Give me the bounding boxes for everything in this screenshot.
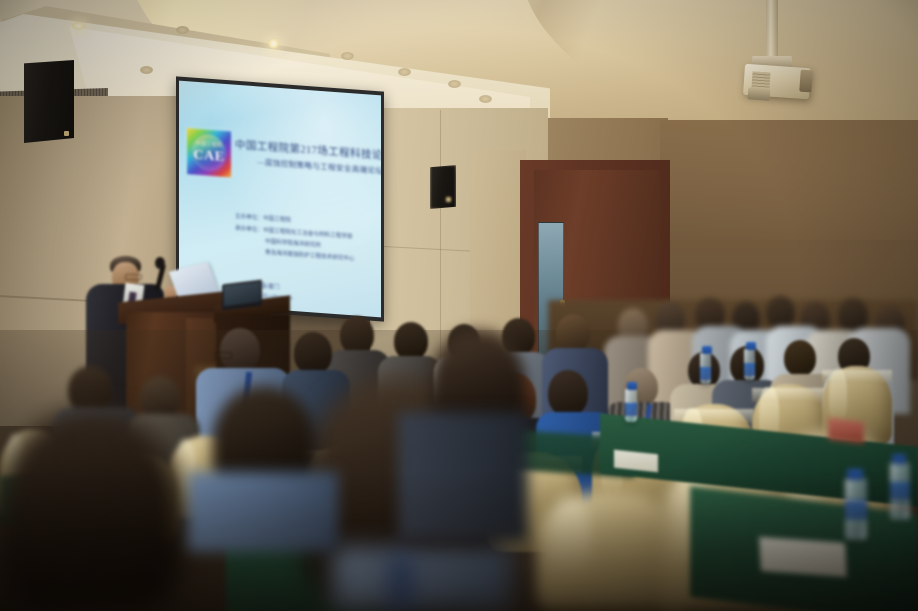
name-card — [828, 418, 864, 444]
bottle-label — [744, 363, 755, 376]
chair-band — [822, 370, 892, 383]
projector-vent — [751, 71, 770, 88]
wall-speaker-mid — [430, 165, 456, 209]
cae-logo-text: CAE — [187, 147, 231, 166]
depth-of-field-shading — [0, 470, 918, 611]
microphone-head — [155, 257, 165, 269]
audience-head — [68, 366, 112, 414]
audience-head — [548, 370, 588, 416]
bottle-label — [700, 367, 711, 380]
audience-head — [220, 328, 260, 372]
audience-head — [766, 296, 795, 329]
slide-organizer-line-2: 承办单位：中国工程院化工冶金与材料工程学部 — [235, 224, 352, 241]
chair-band — [674, 409, 754, 424]
chair-band — [752, 388, 826, 402]
downlight-icon — [341, 52, 354, 60]
audience-head — [394, 322, 428, 360]
bottle-cap — [702, 346, 712, 354]
laptop-screen — [224, 282, 260, 306]
glasses-icon — [214, 352, 232, 359]
downlight-icon — [72, 22, 85, 30]
downlight-icon — [479, 95, 492, 103]
audience-head — [784, 340, 816, 376]
projector-lens — [748, 87, 771, 101]
cae-logo: 中国工程院 CAE — [187, 128, 231, 177]
bottle-cap — [892, 454, 906, 464]
speaker-led-icon — [446, 197, 451, 202]
bottled-water[interactable] — [700, 352, 711, 384]
speaker-led-icon — [64, 131, 69, 136]
slide-organizer-line-1: 主办单位：中国工程院 — [235, 212, 291, 224]
downlight-icon — [448, 80, 461, 88]
presenter-glasses-icon — [125, 274, 142, 280]
wall-speaker-left — [24, 60, 74, 143]
audience-head — [556, 314, 590, 352]
bottled-water[interactable] — [625, 388, 637, 422]
presenter-laptop — [222, 280, 262, 311]
downlight-icon — [398, 68, 411, 76]
bottled-water[interactable] — [744, 348, 755, 380]
wall-far-right-highlight — [660, 120, 918, 240]
downlight-icon — [140, 66, 153, 74]
projector-side-panel — [799, 70, 813, 93]
projector-mount-pole — [766, 0, 778, 62]
conference-hall-photo: 中国工程院 CAE 中国工程院第217场工程科技论坛 —腐蚀控制策略与工程安全高… — [0, 0, 918, 611]
downlight-icon — [176, 26, 189, 34]
audience-head — [294, 332, 332, 374]
bottle-label — [625, 403, 637, 416]
audience-head — [838, 298, 868, 332]
bottle-cap — [746, 342, 756, 350]
downlight-icon — [268, 38, 279, 49]
bottle-cap — [627, 382, 637, 390]
